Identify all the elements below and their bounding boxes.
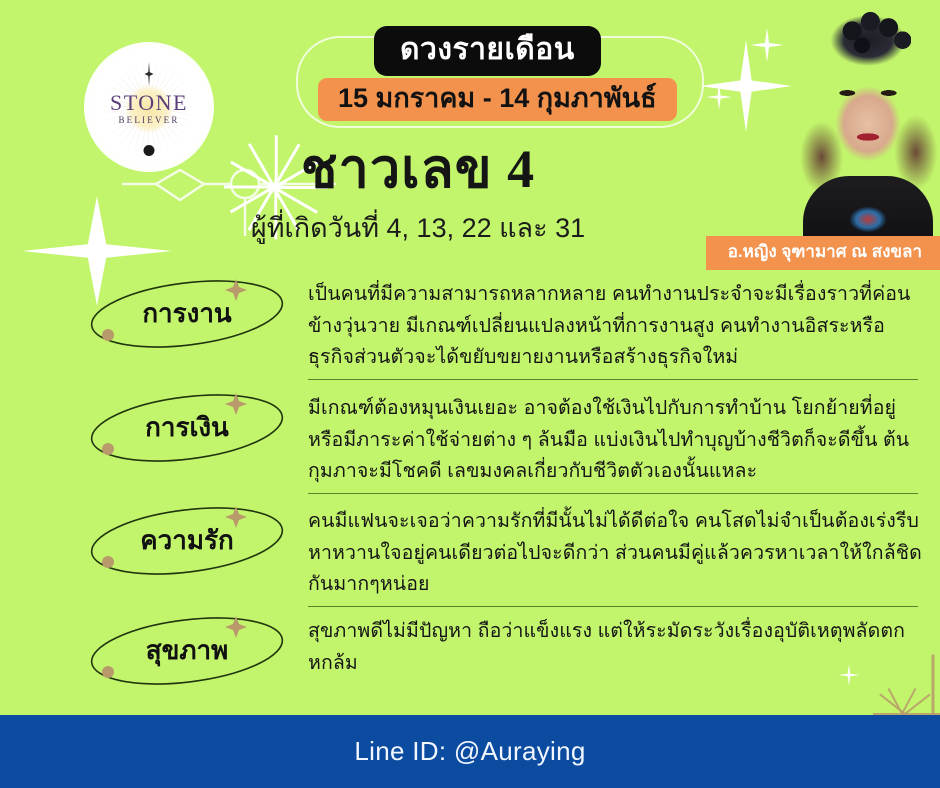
portrait-lips	[853, 132, 883, 142]
portrait-hair	[841, 10, 911, 62]
logo-subtext: BELIEVER	[118, 115, 179, 125]
logo-wordmark: STONE	[110, 92, 188, 114]
section-work-divider	[308, 379, 918, 380]
monthly-horoscope-badge: ดวงรายเดือน	[374, 26, 601, 76]
section-love-label: ความรัก	[86, 502, 288, 580]
section-health-text: สุขภาพดีไม่มีปัญหา ถือว่าแข็งแรง แต่ให้ร…	[308, 616, 926, 679]
section-work-ellipse: การงาน	[86, 275, 288, 353]
section-work-label: การงาน	[86, 275, 288, 353]
section-love-divider	[308, 606, 918, 607]
section-money-label: การเงิน	[86, 389, 288, 467]
section-health-ellipse: สุขภาพ	[86, 612, 288, 690]
date-range-badge: 15 มกราคม - 14 กุมภาพันธ์	[318, 78, 677, 121]
portrait-eyes	[831, 88, 905, 98]
astrologer-portrait	[795, 0, 940, 238]
corner-starburst-icon	[872, 712, 874, 714]
section-love-ellipse: ความรัก	[86, 502, 288, 580]
section-health-label: สุขภาพ	[86, 612, 288, 690]
section-love-text: คนมีแฟนจะเจอว่าความรักที่มีนั้นไม่ได้ดีต…	[308, 506, 926, 601]
section-money-text: มีเกณฑ์ต้องหมุนเงินเยอะ อาจต้องใช้เงินไป…	[308, 393, 926, 488]
poster-canvas: STONE BELIEVER ดวงรายเดือน 15 มกราคม - 1…	[0, 0, 940, 788]
sparkle-star-topright-tiny-icon	[706, 84, 732, 110]
author-name-badge: อ.หญิง จุฑามาศ ณ สงขลา	[706, 236, 940, 270]
section-work-text: เป็นคนที่มีความสามารถหลากหลาย คนทำงานประ…	[308, 279, 926, 374]
line-id-text: Line ID: @Auraying	[354, 736, 585, 767]
portrait-clothing	[803, 176, 933, 238]
section-money-divider	[308, 493, 918, 494]
footer-bar: Line ID: @Auraying	[0, 715, 940, 788]
sparkle-star-topright-small-icon	[750, 28, 784, 62]
section-money-ellipse: การเงิน	[86, 389, 288, 467]
sparkle-star-topright-icon	[700, 40, 792, 132]
